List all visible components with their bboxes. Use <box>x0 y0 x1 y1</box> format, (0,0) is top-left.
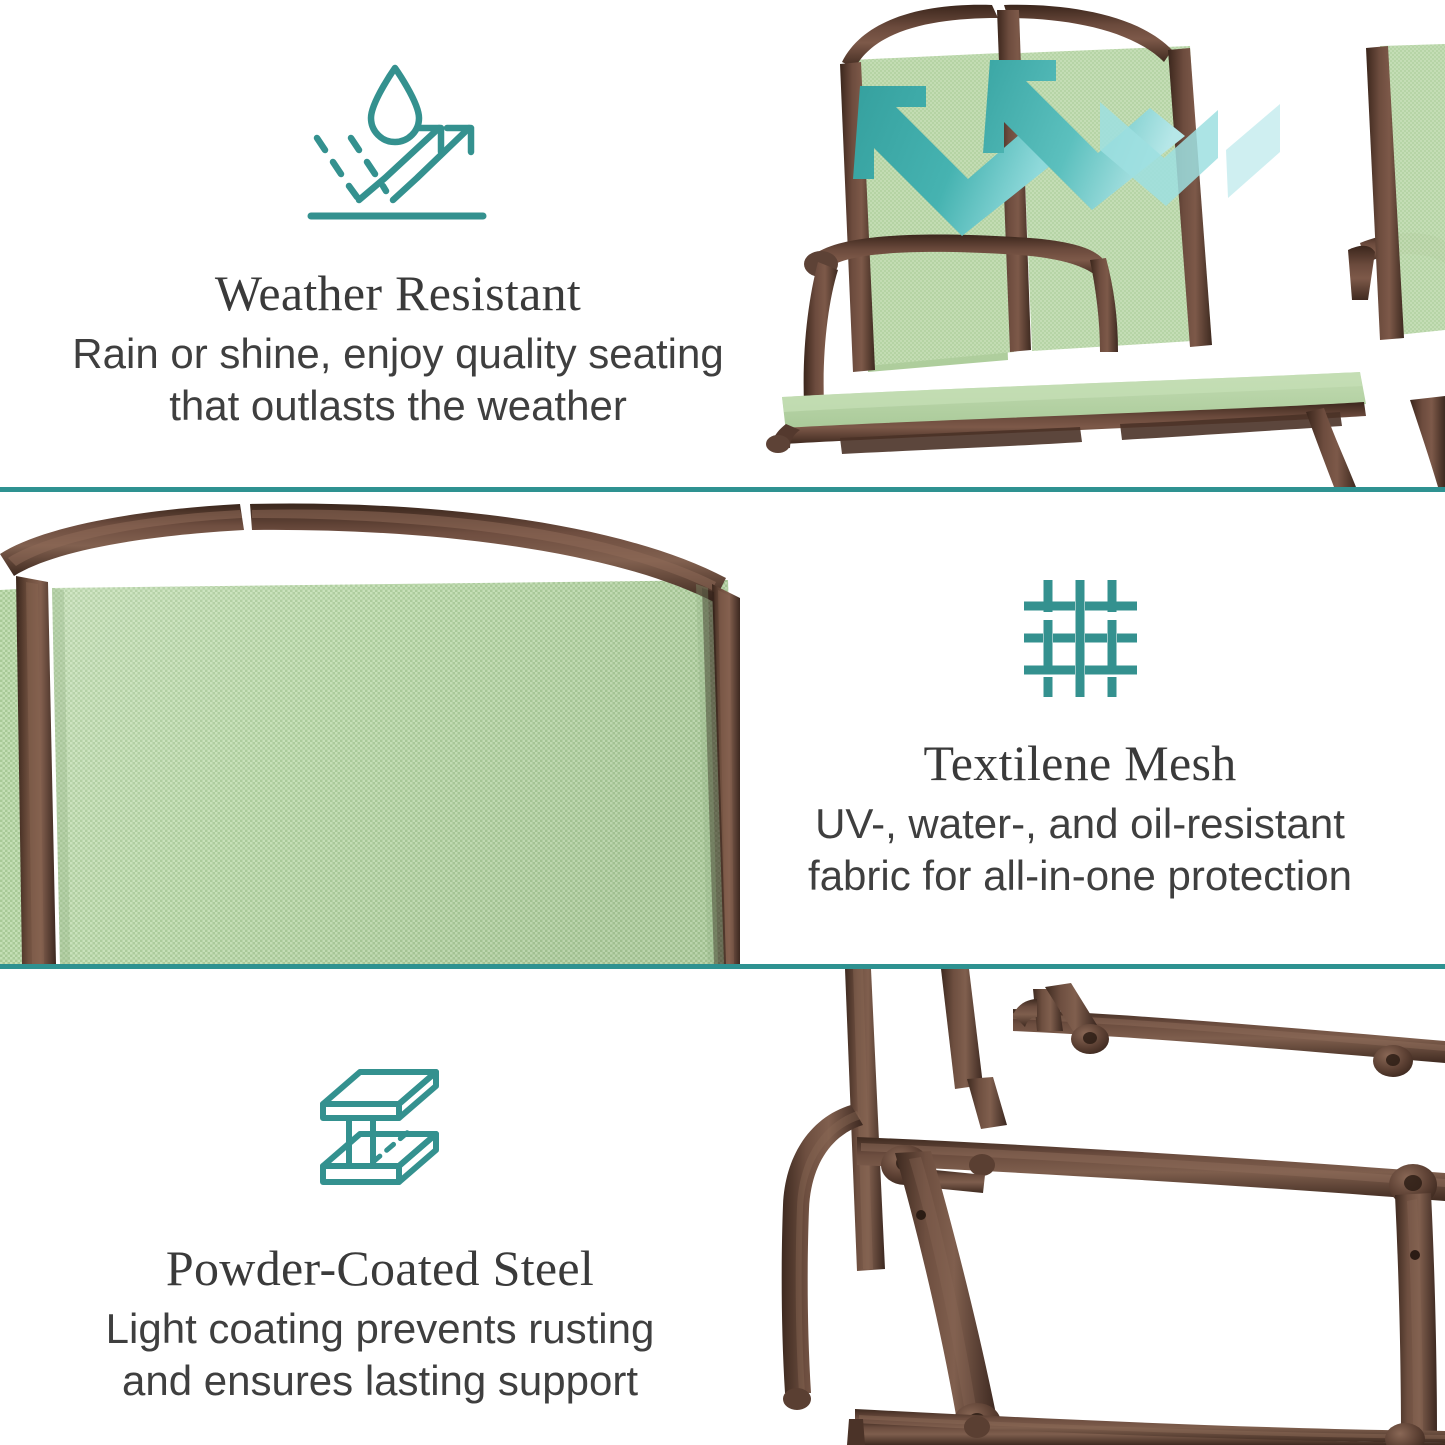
feature-weather-resistant: Weather Resistant Rain or shine, enjoy q… <box>18 60 778 433</box>
feature-powder-coated-steel: Powder-Coated Steel Light coating preven… <box>10 1058 750 1408</box>
feature-weather-title: Weather Resistant <box>18 267 778 320</box>
feature-steel-title: Powder-Coated Steel <box>10 1242 750 1295</box>
feature-textilene-mesh: Textilene Mesh UV-, water-, and oil-resi… <box>715 576 1445 903</box>
section-divider-bottom <box>0 964 1445 969</box>
glider-photo-graphic <box>745 969 1445 1445</box>
glider-base-closeup-photo <box>745 969 1445 1445</box>
feature-mesh-description: UV-, water-, and oil-resistant fabric fo… <box>715 798 1445 904</box>
woven-mesh-icon <box>1018 576 1143 701</box>
water-repellent-droplet-icon <box>293 60 503 225</box>
feature-steel-description: Light coating prevents rusting and ensur… <box>10 1303 750 1409</box>
textilene-fabric-closeup-photo <box>0 492 740 964</box>
feature-mesh-title: Textilene Mesh <box>715 737 1445 790</box>
water-repellent-droplet-icon-svg <box>293 60 503 225</box>
patio-glider-loveseat-photo <box>720 0 1445 487</box>
feature-mesh-desc-line-1: UV-, water-, and oil-resistant <box>715 798 1445 851</box>
i-beam-steel-icon <box>290 1058 470 1198</box>
infographic-page: Weather Resistant Rain or shine, enjoy q… <box>0 0 1445 1445</box>
chair-photo-graphic <box>720 0 1445 487</box>
feature-mesh-desc-line-2: fabric for all-in-one protection <box>715 850 1445 903</box>
section-divider-top <box>0 487 1445 492</box>
feature-weather-desc-line-1: Rain or shine, enjoy quality seating <box>18 328 778 381</box>
fabric-photo-graphic <box>0 492 740 964</box>
feature-steel-desc-line-1: Light coating prevents rusting <box>10 1303 750 1356</box>
feature-steel-desc-line-2: and ensures lasting support <box>10 1355 750 1408</box>
woven-mesh-icon-svg <box>1018 576 1143 701</box>
i-beam-steel-icon-svg <box>290 1058 470 1198</box>
feature-weather-desc-line-2: that outlasts the weather <box>18 380 778 433</box>
feature-weather-description: Rain or shine, enjoy quality seating tha… <box>18 328 778 434</box>
